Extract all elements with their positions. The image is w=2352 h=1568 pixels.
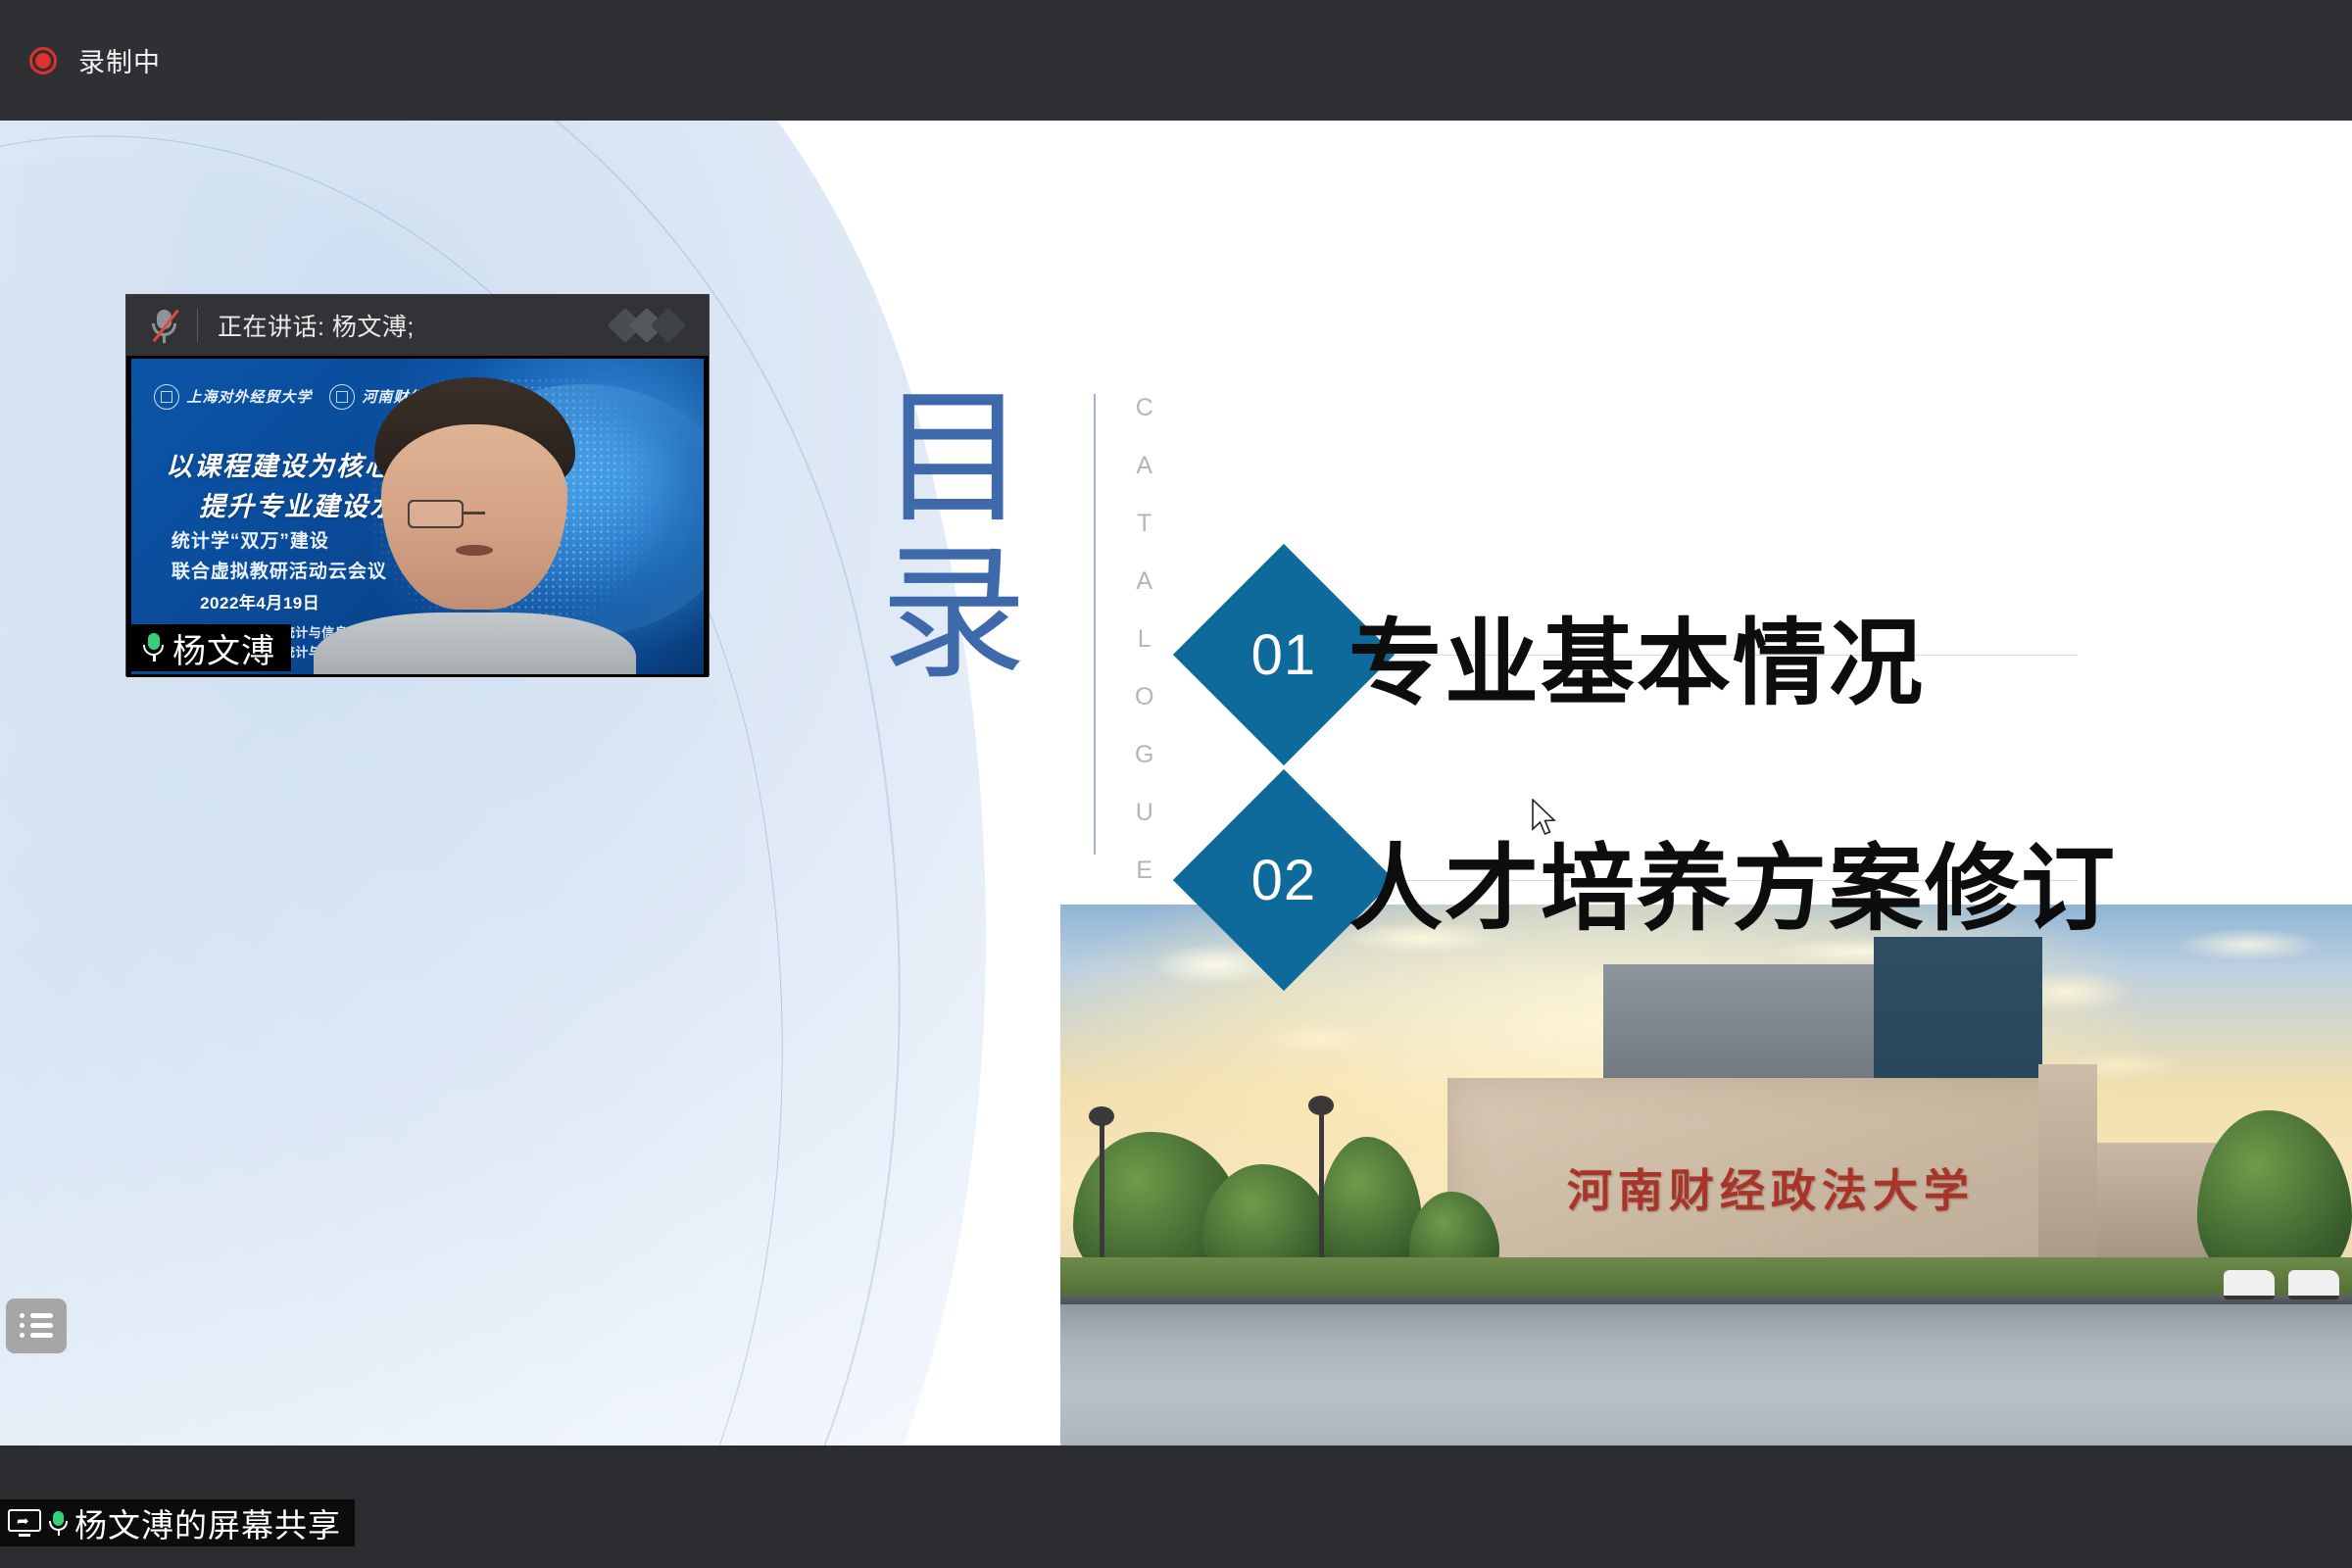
- photo-lamp-post: [1319, 1110, 1324, 1273]
- portrait-glasses: [408, 500, 542, 527]
- agenda-label: 专业基本情况: [1348, 587, 1925, 723]
- screen-share-label: 杨文溥的屏幕共享: [74, 1499, 341, 1546]
- participant-name-badge: 杨文溥: [131, 624, 291, 671]
- mouse-cursor: [1531, 799, 1560, 840]
- video-stream[interactable]: 上海对外经贸大学 河南财经政法大学 以课程建设为核心 提升专业建设水平 统计学“…: [126, 356, 709, 677]
- photo-wall-text: 河南财经政法大学: [1480, 1155, 2061, 1220]
- recording-label: 录制中: [78, 41, 161, 79]
- catalogue-letter: E: [1136, 858, 1154, 883]
- list-icon: [20, 1313, 53, 1339]
- agenda-item[interactable]: 01 专业基本情况: [1205, 542, 2117, 767]
- agenda-label: 人才培养方案修订: [1348, 812, 2117, 949]
- catalogue-letter: C: [1136, 396, 1155, 420]
- screen-share-status[interactable]: ➦ 杨文溥的屏幕共享: [0, 1499, 355, 1546]
- catalogue-heading: 目 录 C A T A L O G U E: [872, 380, 1155, 916]
- recording-indicator-icon: [29, 47, 57, 74]
- catalogue-divider: [1094, 394, 1096, 855]
- campus-gate-photo: 河南财经政法大学: [1060, 905, 2352, 1445]
- catalogue-letter: A: [1136, 454, 1154, 478]
- portrait-shirt: [314, 612, 636, 674]
- video-window-header: 正在讲话: 杨文溥;: [126, 295, 709, 356]
- catalogue-char-mu: 目: [880, 380, 1031, 536]
- university-logo-left: 上海对外经贸大学: [154, 384, 312, 410]
- photo-road: [1060, 1304, 2352, 1445]
- catalogue-title-en: C A T A L O G U E: [1135, 396, 1155, 916]
- screen-root: 录制中 目 录 C A T A L O G U E: [0, 0, 2352, 1568]
- catalogue-letter: O: [1135, 685, 1155, 710]
- seal-icon: [154, 384, 179, 410]
- participant-name: 杨文溥: [172, 624, 275, 672]
- agenda-list: 01 专业基本情况 02 人才培养方案修订: [1205, 542, 2117, 993]
- participant-video-window[interactable]: 正在讲话: 杨文溥; 上海对外经贸大学 河南财经政法大学: [125, 294, 710, 676]
- diamond-logo-icon: [612, 308, 683, 343]
- catalogue-letter: T: [1137, 512, 1153, 536]
- speaking-label: 正在讲话: 杨文溥;: [218, 308, 415, 343]
- photo-lamp-post: [1100, 1121, 1104, 1262]
- bottom-status-bar: ➦ 杨文溥的屏幕共享: [0, 1445, 2352, 1568]
- photo-vehicle: [2288, 1270, 2339, 1299]
- screen-share-icon: ➦: [8, 1509, 41, 1537]
- video-bg-date: 2022年4月19日: [200, 589, 319, 613]
- mic-off-icon: [148, 306, 181, 345]
- catalogue-letter: L: [1138, 627, 1153, 652]
- agenda-number: 02: [1251, 847, 1317, 912]
- agenda-number: 01: [1251, 621, 1317, 687]
- mic-on-icon: [47, 1508, 71, 1538]
- photo-vehicle: [2224, 1270, 2275, 1299]
- university-name-left: 上海对外经贸大学: [186, 386, 312, 407]
- catalogue-char-lu: 录: [880, 536, 1031, 692]
- catalogue-letter: U: [1136, 801, 1155, 825]
- mic-on-icon: [141, 631, 167, 664]
- catalogue-letter: G: [1135, 743, 1155, 767]
- catalogue-letter: A: [1136, 569, 1154, 594]
- recording-bar: 录制中: [0, 0, 2352, 121]
- video-frame: 上海对外经贸大学 河南财经政法大学 以课程建设为核心 提升专业建设水平 统计学“…: [131, 359, 704, 674]
- header-divider: [197, 309, 198, 342]
- catalogue-title-cn: 目 录: [872, 380, 1039, 692]
- participant-portrait: [349, 377, 601, 674]
- portrait-mouth: [456, 545, 493, 556]
- slide-list-button[interactable]: [6, 1298, 67, 1353]
- portrait-face: [381, 424, 567, 610]
